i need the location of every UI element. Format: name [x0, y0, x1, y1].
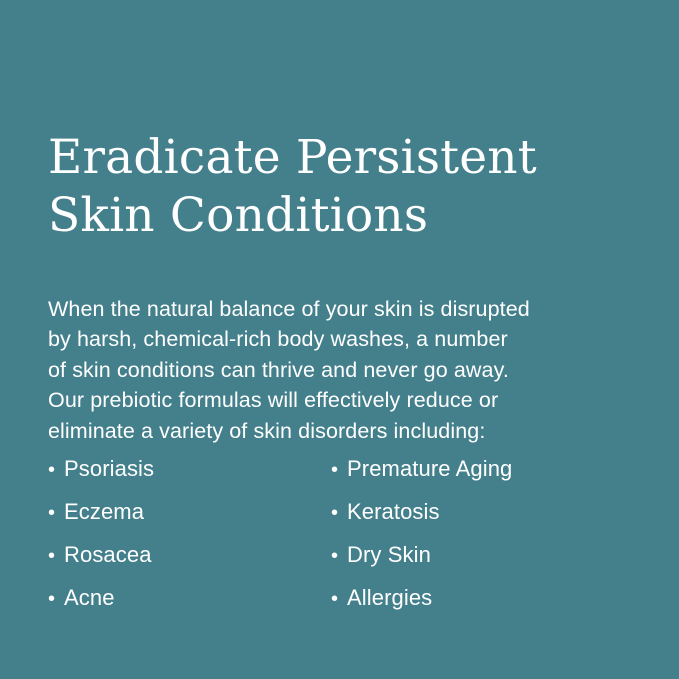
list-item-label: Dry Skin: [347, 534, 431, 576]
list-item: • Acne: [48, 577, 331, 620]
list-item: • Rosacea: [48, 534, 331, 577]
list-item-label: Acne: [64, 577, 115, 619]
bullet-icon: •: [331, 578, 347, 620]
body-line-3: of skin conditions can thrive and never …: [48, 355, 635, 386]
body-line-4: Our prebiotic formulas will effectively …: [48, 385, 635, 416]
list-item: • Keratosis: [331, 491, 631, 534]
bullet-icon: •: [331, 449, 347, 491]
body-paragraph: When the natural balance of your skin is…: [48, 294, 635, 447]
list-item-label: Eczema: [64, 491, 144, 533]
page-title-line-2: Skin Conditions: [48, 187, 639, 245]
list-item: • Eczema: [48, 491, 331, 534]
list-item: • Allergies: [331, 577, 631, 620]
promo-card: Eradicate Persistent Skin Conditions Whe…: [0, 0, 679, 679]
conditions-lists: • Psoriasis • Eczema • Rosacea • Acne • …: [48, 448, 631, 620]
list-item-label: Allergies: [347, 577, 432, 619]
list-item-label: Psoriasis: [64, 448, 154, 490]
bullet-icon: •: [331, 535, 347, 577]
list-item-label: Rosacea: [64, 534, 152, 576]
bullet-icon: •: [48, 578, 64, 620]
list-item-label: Premature Aging: [347, 448, 512, 490]
body-line-1: When the natural balance of your skin is…: [48, 294, 635, 325]
list-item: • Psoriasis: [48, 448, 331, 491]
bullet-icon: •: [48, 449, 64, 491]
conditions-column-left: • Psoriasis • Eczema • Rosacea • Acne: [48, 448, 331, 620]
body-line-2: by harsh, chemical-rich body washes, a n…: [48, 324, 635, 355]
page-title: Eradicate Persistent Skin Conditions: [48, 129, 639, 245]
bullet-icon: •: [48, 492, 64, 534]
bullet-icon: •: [48, 535, 64, 577]
list-item-label: Keratosis: [347, 491, 440, 533]
body-line-5: eliminate a variety of skin disorders in…: [48, 416, 635, 447]
list-item: • Dry Skin: [331, 534, 631, 577]
conditions-column-right: • Premature Aging • Keratosis • Dry Skin…: [331, 448, 631, 620]
page-title-line-1: Eradicate Persistent: [48, 129, 639, 187]
bullet-icon: •: [331, 492, 347, 534]
list-item: • Premature Aging: [331, 448, 631, 491]
